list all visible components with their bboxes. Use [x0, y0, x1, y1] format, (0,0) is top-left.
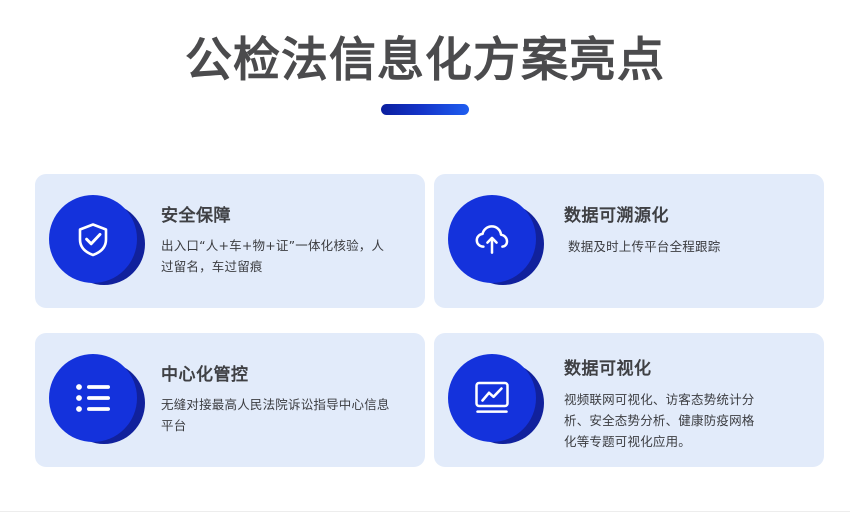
icon-disc: [448, 354, 536, 442]
card-title: 数据可溯源化: [564, 206, 720, 226]
card-title: 中心化管控: [161, 365, 396, 385]
icon-container: [448, 195, 544, 291]
icon-container: [49, 195, 145, 291]
shield-check-icon: [73, 219, 113, 259]
feature-card-security[interactable]: 安全保障 出入口“人+车+物+证”一体化核验，人过留名，车过留痕: [35, 174, 425, 308]
list-icon: [73, 381, 113, 415]
card-description: 视频联网可视化、访客态势统计分析、安全态势分析、健康防疫网格化等专题可视化应用。: [564, 389, 764, 452]
icon-disc: [49, 195, 137, 283]
card-text-block: 数据可溯源化 数据及时上传平台全程跟踪: [564, 206, 730, 257]
title-underline-bar: [381, 104, 469, 115]
bottom-divider: [0, 511, 850, 512]
chart-monitor-icon: [472, 379, 512, 417]
card-description: 数据及时上传平台全程跟踪: [568, 236, 720, 257]
card-description: 出入口“人+车+物+证”一体化核验，人过留名，车过留痕: [161, 235, 396, 277]
icon-container: [448, 354, 544, 450]
feature-card-data-visualization[interactable]: 数据可视化 视频联网可视化、访客态势统计分析、安全态势分析、健康防疫网格化等专题…: [434, 333, 824, 467]
page-title: 公检法信息化方案亮点: [0, 34, 850, 88]
cloud-upload-icon: [471, 218, 513, 260]
icon-disc: [448, 195, 536, 283]
card-title: 安全保障: [161, 206, 396, 226]
card-description: 无缝对接最高人民法院诉讼指导中心信息平台: [161, 394, 396, 436]
card-text-block: 中心化管控 无缝对接最高人民法院诉讼指导中心信息平台: [161, 365, 406, 436]
icon-disc: [49, 354, 137, 442]
icon-container: [49, 354, 145, 450]
card-title: 数据可视化: [564, 359, 764, 379]
highlights-page: 公检法信息化方案亮点 安全保障 出入口“人+车+物+证”一体化核: [0, 0, 850, 516]
card-text-block: 数据可视化 视频联网可视化、访客态势统计分析、安全态势分析、健康防疫网格化等专题…: [564, 359, 774, 452]
feature-card-centralized-control[interactable]: 中心化管控 无缝对接最高人民法院诉讼指导中心信息平台: [35, 333, 425, 467]
page-header: 公检法信息化方案亮点: [0, 34, 850, 115]
feature-card-grid: 安全保障 出入口“人+车+物+证”一体化核验，人过留名，车过留痕: [35, 174, 824, 467]
feature-card-data-traceability[interactable]: 数据可溯源化 数据及时上传平台全程跟踪: [434, 174, 824, 308]
card-text-block: 安全保障 出入口“人+车+物+证”一体化核验，人过留名，车过留痕: [161, 206, 406, 277]
